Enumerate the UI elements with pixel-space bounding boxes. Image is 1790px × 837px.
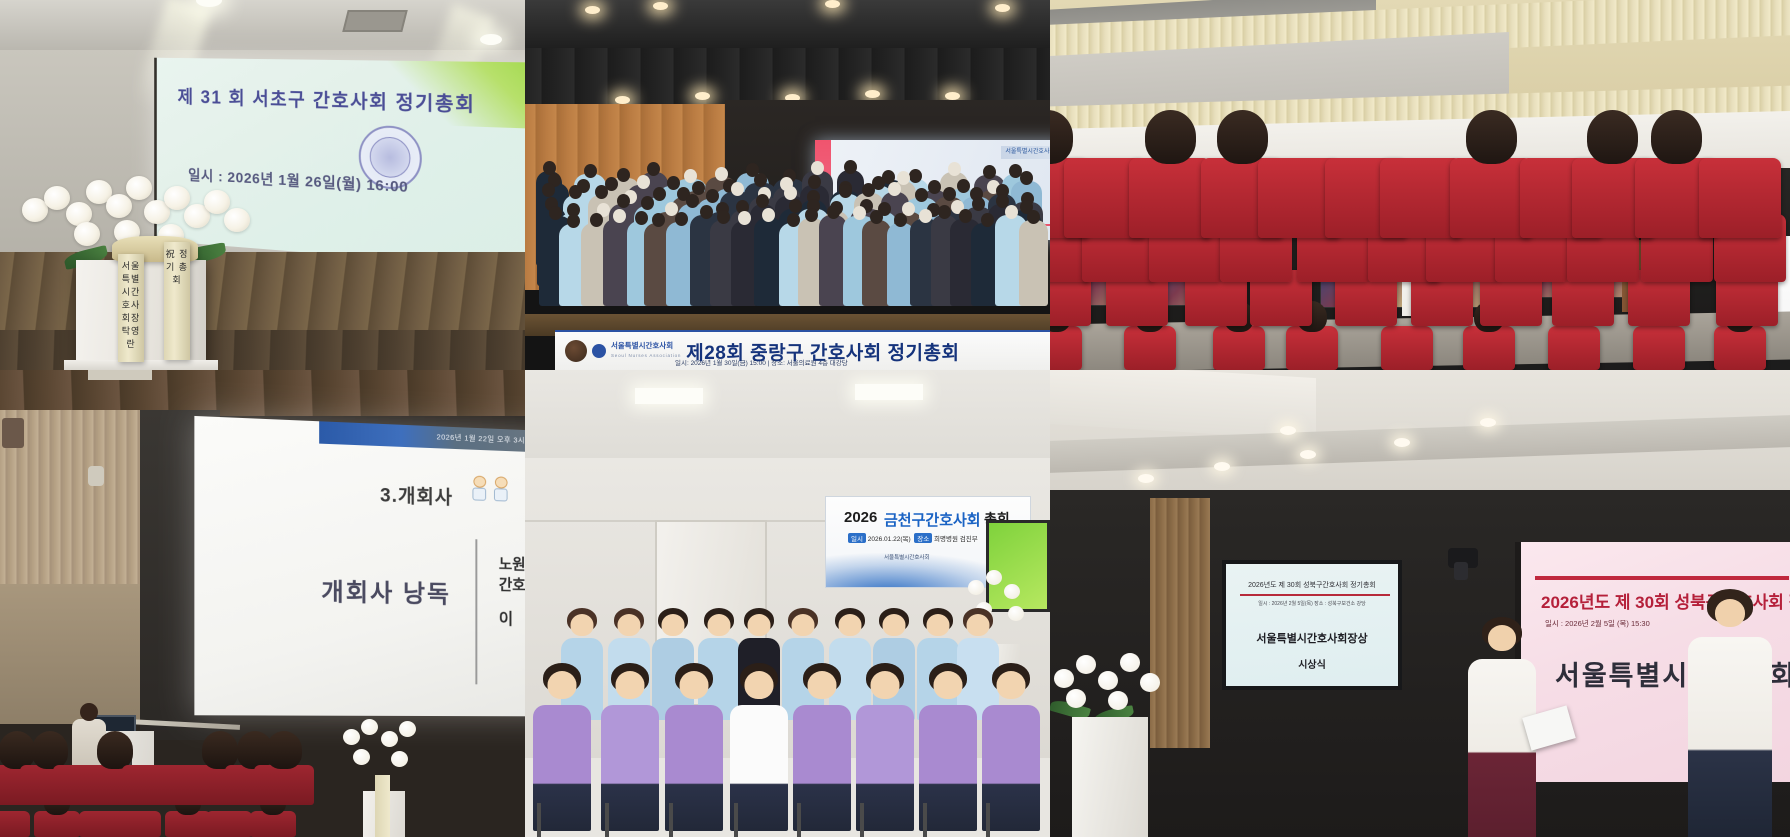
downlight-icon (585, 6, 600, 14)
congratulatory-ribbon-left: 서울특별시간호사회장 탁영란 (118, 254, 144, 362)
person-head (675, 212, 688, 226)
person-head (1020, 171, 1033, 185)
banner-details: 일시 2026.01.22(목) 장소 희명병원 검진부 (848, 533, 978, 543)
person-body (533, 705, 591, 831)
downlight-icon (1214, 462, 1230, 471)
spotlight-icon (480, 34, 502, 45)
person-head (894, 213, 907, 227)
photo-tile-geumcheon-assembly[interactable]: 2026 금천구간호사회 총회 일시 2026.01.22(목) 장소 희명병원… (525, 370, 1050, 837)
downlight-icon (1394, 438, 1410, 447)
person-head (870, 210, 883, 224)
audience-head (1651, 110, 1702, 164)
person-head (789, 199, 802, 213)
person-head (888, 182, 901, 196)
person-head (686, 194, 699, 208)
person-head (943, 187, 956, 201)
tv-divider (1240, 594, 1390, 596)
person-head (613, 209, 626, 223)
banner-org: 서울특별시간호사회 Seoul Nurses Association (611, 342, 681, 359)
flower-vase (1072, 717, 1148, 837)
speaker-icon (88, 466, 104, 486)
date-label: 일시 (848, 533, 866, 543)
auditorium-seat (1129, 158, 1211, 238)
banner-year: 2026 (844, 509, 877, 526)
slide-main-text: 개회사 낭독 (321, 572, 451, 610)
auditorium-seat (1714, 326, 1766, 370)
person-head (915, 188, 928, 202)
person-head (928, 180, 941, 194)
ceiling (525, 370, 1050, 466)
chair-leg (923, 803, 927, 837)
downlight-icon (1280, 426, 1296, 435)
person-head (653, 187, 666, 201)
chair-leg (669, 803, 673, 837)
auditorium-seat (1124, 326, 1176, 370)
ceiling-vent (342, 10, 407, 32)
person-head (567, 214, 580, 228)
audience-head (1217, 110, 1268, 164)
person-body (601, 705, 659, 831)
speaker-icon (2, 418, 24, 448)
downlight-icon (653, 2, 668, 10)
auditorium-seat (0, 811, 30, 837)
person-body (665, 705, 723, 831)
downlight-icon (825, 0, 840, 8)
person-head (542, 183, 555, 197)
person-head (983, 165, 996, 179)
group-photo-crowd (525, 158, 1050, 318)
downlight-icon (615, 96, 630, 104)
audience-seats (0, 749, 525, 837)
person-head (1005, 205, 1018, 219)
audience-head (202, 731, 238, 769)
tv-display: 2026년도 제 30회 성북구간호사회 정기총회 일시 : 2026년 2월 … (1222, 560, 1402, 690)
person-head (692, 181, 705, 195)
tv-line-2: 일시 : 2026년 2월 5일(목) 장소 : 성북구보건소 강당 (1226, 600, 1398, 607)
camera-icon (1448, 548, 1478, 568)
date-value: 2026.01.22(목) (868, 536, 911, 543)
group-photo-person (665, 663, 723, 831)
audience-head (0, 731, 35, 769)
downlight-icon (1138, 474, 1154, 483)
person-head (808, 175, 821, 189)
left-wall-lower (0, 584, 150, 724)
person-head (1027, 210, 1040, 224)
person-head (652, 213, 665, 227)
person-head (584, 164, 597, 178)
person-head (635, 211, 648, 225)
nurse-character-icon (471, 475, 487, 501)
screen-subtitle: 일시 : 2026년 2월 5일 (목) 15:30 (1545, 618, 1650, 629)
auditorium-seat (254, 765, 314, 805)
person-face (996, 671, 1025, 699)
banner-org-en: Seoul Nurses Association (611, 353, 681, 358)
downlight-icon (995, 4, 1010, 12)
chair-leg (605, 803, 609, 837)
person-body (856, 705, 914, 831)
person-head (706, 189, 719, 203)
association-seal-icon (592, 344, 606, 358)
group-photo-person (533, 663, 591, 831)
chair-leg (860, 803, 864, 837)
person-head (549, 206, 562, 220)
ceiling-light-icon (855, 384, 923, 400)
audience-head (32, 731, 68, 769)
person-head (811, 161, 824, 175)
photo-tile-seocho-assembly[interactable]: 제 31 회 서초구 간호사회 정기총회 일시 : 2026년 1월 26일(월… (0, 0, 525, 370)
person-head (981, 213, 994, 227)
banner-details: 일시: 2026년 1월 30일(금) 15:00 | 장소: 서울의료원 4층… (675, 357, 848, 367)
audience-head (266, 731, 302, 769)
person-body (793, 705, 851, 831)
auditorium-seat (115, 811, 161, 837)
person-head (844, 160, 857, 174)
chair-leg (986, 803, 990, 837)
place-label: 장소 (914, 533, 932, 543)
person-head (787, 213, 800, 227)
person-head (762, 208, 775, 222)
congratulatory-ribbon-right: 祝 정 기 총 회 (164, 242, 190, 360)
person-face (680, 671, 709, 699)
photo-tile-award-ceremony[interactable]: 2026년도 제 30회 성북구간호사회 정기총회 일시 : 2026년 2월 … (1050, 370, 1790, 837)
group-photo-person (793, 663, 851, 831)
person-head (641, 196, 654, 210)
tv-line-4: 시상식 (1226, 656, 1398, 671)
chair-leg (797, 803, 801, 837)
downlight-icon (1480, 418, 1496, 427)
person-head (756, 194, 769, 208)
audience-head (97, 731, 133, 769)
person-face (744, 671, 773, 699)
person-head (637, 175, 650, 189)
front-row-people (525, 607, 1050, 837)
person-head (938, 205, 951, 219)
person-head (948, 162, 961, 176)
ceiling-panel (88, 370, 152, 380)
person-head (754, 173, 767, 187)
chair-leg (537, 803, 541, 837)
auditorium-seat (1548, 326, 1600, 370)
chair-leg (734, 803, 738, 837)
nurse-character-icon (493, 476, 509, 502)
event-banner: 서울특별시간호사회 Seoul Nurses Association 제28회 … (555, 330, 1050, 370)
tv-line-1: 2026년도 제 30회 성북구간호사회 정기총회 (1226, 580, 1398, 590)
person-head (827, 205, 840, 219)
person-head (805, 208, 818, 222)
group-photo-person (1019, 220, 1048, 306)
person-head (738, 211, 751, 225)
audience-head (1587, 110, 1638, 164)
person-face (807, 671, 836, 699)
auditorium-seat (1381, 326, 1433, 370)
person-head (957, 179, 970, 193)
place-value: 희명병원 검진부 (934, 536, 978, 543)
photo-tile-auditorium[interactable] (1050, 0, 1790, 370)
photo-tile-nowon-opening-address[interactable]: 2026년 1월 22일 오후 3시30분 3.개회사 개회사 낭독 노원구 간… (0, 370, 525, 837)
person-body (919, 705, 977, 831)
downlight-icon (1300, 450, 1316, 459)
person-head (617, 194, 630, 208)
person-head (590, 213, 603, 227)
auditorium-seat (1050, 326, 1082, 370)
person-head (647, 162, 660, 176)
downlight-icon (695, 92, 710, 100)
person-head (959, 209, 972, 223)
auditorium-seat (1633, 326, 1685, 370)
audience-head (1145, 110, 1196, 164)
auditorium-seat (1286, 326, 1338, 370)
person-head (717, 210, 730, 224)
group-photo-person (919, 663, 977, 831)
group-photo-person (730, 663, 788, 831)
audience-head (1466, 110, 1517, 164)
mascot-icon (565, 340, 587, 362)
group-photo-person (856, 663, 914, 831)
auditorium-seat (1213, 326, 1265, 370)
downlight-icon (945, 92, 960, 100)
slide-district: 노원구 (499, 556, 525, 574)
banner-org-name: 금천구간호사회 (884, 509, 981, 530)
person-head (919, 209, 932, 223)
person-head (862, 183, 875, 197)
person-head (909, 169, 922, 183)
person-face (870, 671, 899, 699)
person-head (617, 168, 630, 182)
person-head (972, 197, 985, 211)
projection-screen: 2026년 1월 22일 오후 3시30분 3.개회사 개회사 낭독 노원구 간… (194, 416, 525, 717)
auditorium-seat (1699, 158, 1781, 238)
slide-speaker-name: 이 춘 남 (499, 605, 525, 630)
ceiling-soffit (525, 0, 1050, 48)
person-face (548, 671, 577, 699)
auditorium-seat (1463, 326, 1515, 370)
photo-collage: 제 31 회 서초구 간호사회 정기총회 일시 : 2026년 1월 26일(월… (0, 0, 1790, 837)
slide-top-bar: 2026년 1월 22일 오후 3시30분 (319, 421, 525, 457)
downlight-icon (865, 90, 880, 98)
award-recipient-person (1688, 589, 1772, 837)
slide-title: 제 31 회 서초구 간호사회 정기총회 (178, 83, 525, 120)
banner-org-kr: 서울특별시간호사회 (611, 341, 673, 350)
person-body (982, 705, 1040, 831)
person-head (569, 185, 582, 199)
auditorium-seat (206, 811, 252, 837)
group-photo-person (601, 663, 659, 831)
person-body (730, 705, 788, 831)
group-photo-person (982, 663, 1040, 831)
slide-speaker-role: 노원구 간호사회 회장 (499, 554, 525, 597)
slide-heading: 3.개회사 (380, 480, 453, 509)
audience-seating (1050, 170, 1790, 370)
tv-line-3: 서울특별시간호사회장상 (1226, 630, 1398, 646)
slide-divider (475, 539, 477, 684)
person-head (700, 205, 713, 219)
person-head (731, 182, 744, 196)
person-head (839, 184, 852, 198)
ceiling-light-icon (635, 388, 703, 404)
person-head (595, 185, 608, 199)
person-face (615, 671, 644, 699)
person-head (853, 206, 866, 220)
photo-tile-jungnang-assembly[interactable]: 서울특별시간호사회 서울특별시간호사회 제28회 중랑구간호사회 정기총회 서울… (525, 0, 1050, 370)
slide-role: 간호사회 회장 (499, 577, 525, 596)
screen-divider (1535, 576, 1789, 580)
person-face (934, 671, 963, 699)
